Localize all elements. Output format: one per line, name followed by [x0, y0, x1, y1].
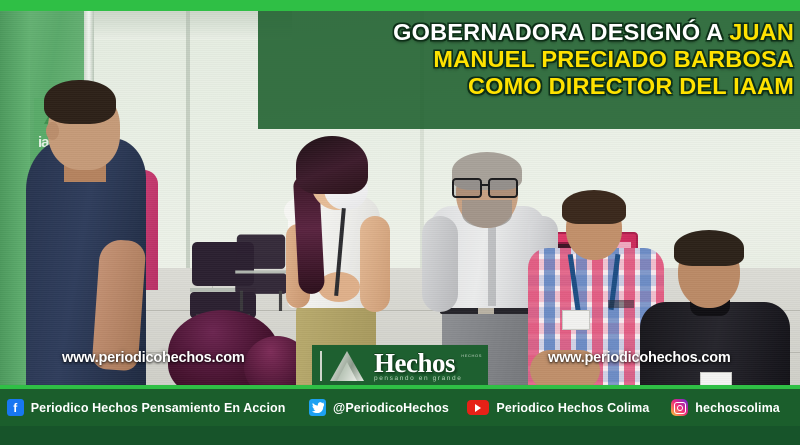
footer-bottom-bar: [0, 426, 800, 445]
person-hair: [44, 80, 116, 124]
camera-glyph-icon: [674, 402, 686, 414]
person-hair: [674, 230, 744, 266]
play-triangle-icon: [475, 404, 481, 412]
eyeglass-lens: [452, 178, 482, 198]
social-item-youtube[interactable]: Periodico Hechos Colima: [467, 400, 649, 415]
chair-back: [237, 235, 285, 269]
headline-line-1-yellow: JUAN: [729, 19, 794, 45]
logo-text-block: Hechos pensando en grande HECHOS: [374, 350, 488, 382]
logo-corner-mark: HECHOS: [461, 353, 482, 358]
social-item-instagram[interactable]: hechoscolima: [671, 399, 780, 416]
youtube-label: Periodico Hechos Colima: [496, 401, 649, 415]
headline-line-1: GOBERNADORA DESIGNÓ A JUAN: [258, 19, 794, 46]
headline-line-1-white: GOBERNADORA DESIGNÓ A: [393, 19, 729, 45]
chair-leg: [279, 291, 282, 311]
chair-leg: [240, 291, 243, 311]
watermark-left: www.periodicohechos.com: [62, 350, 245, 366]
person-beard: [462, 200, 512, 228]
watermark-right: www.periodicohechos.com: [548, 350, 731, 366]
facebook-icon[interactable]: f: [7, 399, 24, 416]
instagram-label: hechoscolima: [695, 401, 780, 415]
social-item-twitter[interactable]: @PeriodicoHechos: [309, 399, 449, 416]
eyeglasses-icon: [452, 178, 520, 194]
headline-line-2: MANUEL PRECIADO BARBOSA: [258, 46, 794, 73]
news-graphic: iaam instituto: [0, 0, 800, 445]
person-ear: [46, 122, 59, 140]
person-arm: [422, 216, 458, 312]
logo-tagline: pensando en grande: [374, 375, 488, 382]
person-hair: [296, 136, 368, 194]
office-chair: [234, 235, 289, 310]
eyeglass-lens: [488, 178, 518, 198]
social-media-bar: f Periodico Hechos Pensamiento En Accion…: [0, 389, 800, 426]
headline-line-3: COMO DIRECTOR DEL IAAM: [258, 73, 794, 100]
logo-divider-bar: [320, 351, 322, 381]
social-item-facebook[interactable]: f Periodico Hechos Pensamiento En Accion: [7, 399, 286, 416]
headline-banner: GOBERNADORA DESIGNÓ A JUAN MANUEL PRECIA…: [258, 11, 800, 129]
twitter-icon[interactable]: [309, 399, 326, 416]
top-green-bar: [0, 0, 800, 11]
facebook-label: Periodico Hechos Pensamiento En Accion: [31, 401, 286, 415]
instagram-icon[interactable]: [671, 399, 688, 416]
eyeglass-bridge: [480, 184, 488, 186]
person-arm: [360, 216, 390, 312]
pyramid-icon: [326, 349, 366, 383]
id-badge: [562, 310, 590, 330]
twitter-label: @PeriodicoHechos: [333, 401, 449, 415]
youtube-icon[interactable]: [467, 400, 489, 415]
person-hair: [562, 190, 626, 224]
shirt-pocket: [608, 300, 634, 308]
hechos-logo: Hechos pensando en grande HECHOS: [312, 345, 488, 387]
